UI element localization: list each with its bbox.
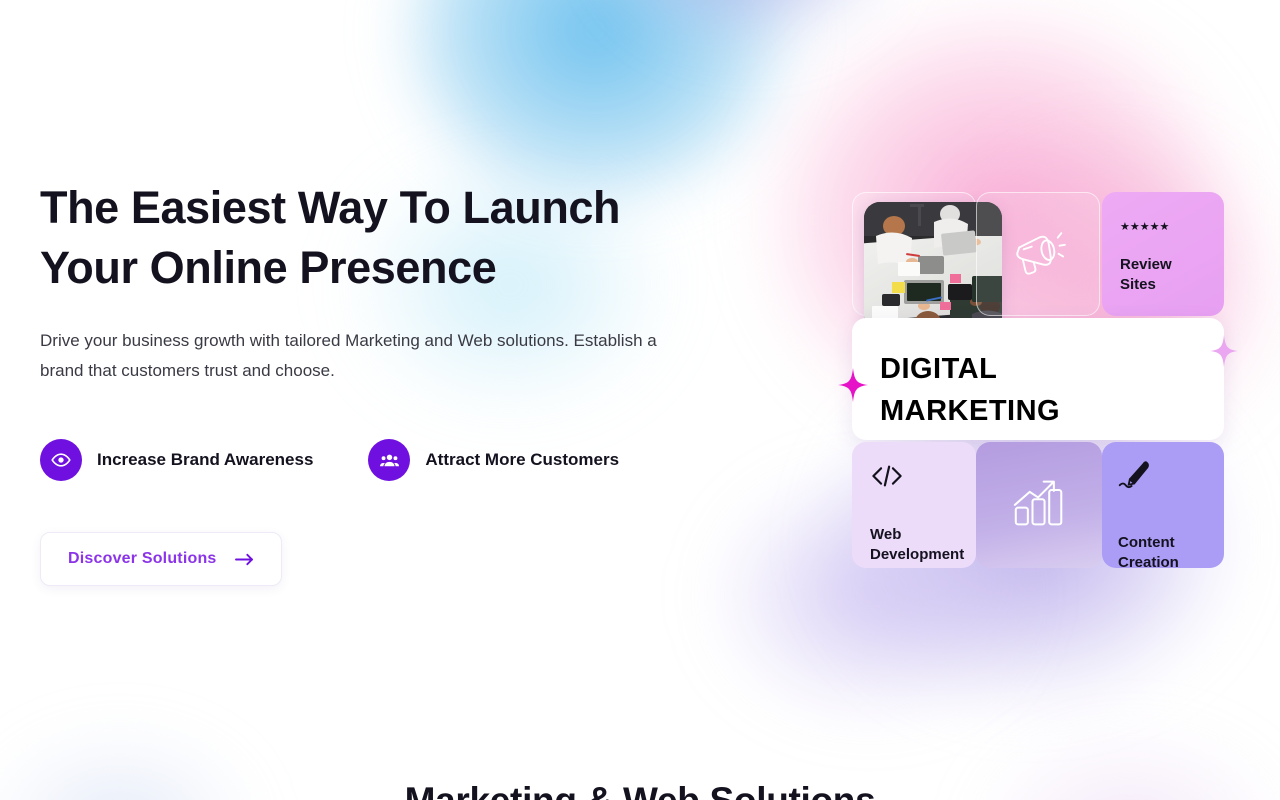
discover-solutions-button[interactable]: Discover Solutions bbox=[40, 532, 282, 586]
headline-line-1: The Easiest Way To Launch bbox=[40, 182, 620, 233]
web-title-line-2: Development bbox=[870, 546, 964, 563]
service-collage: ★★★★★ Review Sites DIGITAL MARKETING We bbox=[852, 192, 1224, 568]
digital-marketing-banner: DIGITAL MARKETING bbox=[852, 318, 1224, 440]
headline-line-2: Your Online Presence bbox=[40, 242, 496, 293]
people-icon bbox=[368, 439, 410, 481]
hero-content: The Easiest Way To Launch Your Online Pr… bbox=[40, 178, 700, 586]
page-title: The Easiest Way To Launch Your Online Pr… bbox=[40, 178, 700, 298]
review-title-line-1: Review bbox=[1120, 256, 1172, 273]
megaphone-card bbox=[976, 192, 1100, 316]
hero-page: The Easiest Way To Launch Your Online Pr… bbox=[0, 0, 1280, 800]
benefit-list: Increase Brand Awareness Attract More Cu… bbox=[40, 439, 700, 481]
web-card-title: Web Development bbox=[870, 525, 962, 565]
stars-glyphs: ★★★★★ bbox=[1120, 222, 1169, 233]
benefit-increase-brand-awareness: Increase Brand Awareness bbox=[40, 439, 313, 481]
arrow-right-icon bbox=[235, 553, 254, 566]
web-title-line-1: Web bbox=[870, 526, 901, 543]
eye-icon bbox=[40, 439, 82, 481]
code-icon bbox=[870, 475, 904, 492]
review-sites-card: ★★★★★ Review Sites bbox=[1102, 192, 1224, 316]
content-card-title: Content Creation bbox=[1118, 533, 1210, 568]
discover-solutions-label: Discover Solutions bbox=[68, 550, 217, 568]
hero-subtext: Drive your business growth with tailored… bbox=[40, 326, 672, 386]
benefit-label: Attract More Customers bbox=[425, 450, 619, 470]
star-rating-icon: ★★★★★ bbox=[1120, 222, 1206, 233]
growth-chart-icon bbox=[1010, 477, 1068, 534]
review-title-line-2: Sites bbox=[1120, 276, 1156, 293]
pen-icon bbox=[1118, 477, 1152, 494]
web-development-card: Web Development bbox=[852, 442, 976, 568]
review-card-title: Review Sites bbox=[1120, 255, 1206, 295]
growth-chart-card bbox=[976, 442, 1102, 568]
banner-line-2: MARKETING bbox=[880, 390, 1224, 432]
content-creation-card: Content Creation bbox=[1102, 442, 1224, 568]
benefit-label: Increase Brand Awareness bbox=[97, 450, 313, 470]
content-title-line-1: Content bbox=[1118, 534, 1175, 551]
background-blob-indigo bbox=[560, 0, 940, 80]
next-section-title: Marketing & Web Solutions bbox=[0, 780, 1280, 800]
benefit-attract-more-customers: Attract More Customers bbox=[368, 439, 619, 481]
banner-line-1: DIGITAL bbox=[880, 348, 1224, 390]
content-title-line-2: Creation bbox=[1118, 554, 1179, 568]
megaphone-icon bbox=[1009, 226, 1067, 283]
